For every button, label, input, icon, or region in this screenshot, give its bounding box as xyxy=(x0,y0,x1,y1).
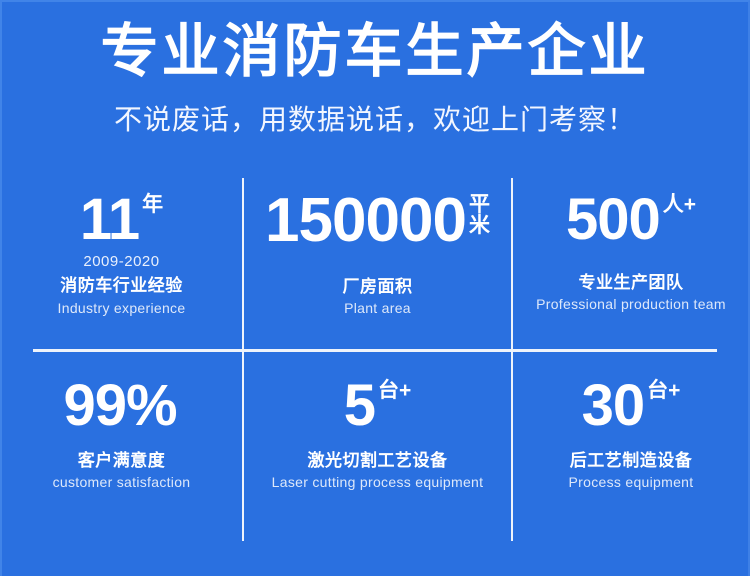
stat-label-en: customer satisfaction xyxy=(53,474,191,490)
stat-unit: 台+ xyxy=(647,380,680,401)
stat-label-cn: 消防车行业经验 xyxy=(60,276,183,296)
stat-label-cn: 厂房面积 xyxy=(343,277,413,297)
stat-label-en: Laser cutting process equipment xyxy=(272,474,484,490)
stat-unit: 台+ xyxy=(378,380,411,401)
stat-cell-process-equipment: 30 台+ 后工艺制造设备 Process equipment xyxy=(512,348,750,538)
stat-cell-industry-experience: 11 年 2009-2020 消防车行业经验 Industry experien… xyxy=(0,176,243,348)
page-title: 专业消防车生产企业 xyxy=(0,22,750,83)
stat-label-cn: 后工艺制造设备 xyxy=(570,451,693,471)
banner-header: 专业消防车生产企业 不说废话，用数据说话，欢迎上门考察！ xyxy=(0,0,750,136)
stat-label-cn: 专业生产团队 xyxy=(579,273,684,293)
stat-figure: 99% xyxy=(63,378,179,433)
stat-cell-plant-area: 150000 平 米 厂房面积 Plant area xyxy=(243,176,512,348)
stats-section: 11 年 2009-2020 消防车行业经验 Industry experien… xyxy=(0,176,750,556)
stat-cell-customer-satisfaction: 99% 客户满意度 customer satisfaction xyxy=(0,348,243,538)
stats-grid: 11 年 2009-2020 消防车行业经验 Industry experien… xyxy=(0,176,750,538)
stat-figure: 150000 平 米 xyxy=(265,192,490,251)
stat-value: 5 xyxy=(344,378,375,433)
stat-year-range: 2009-2020 xyxy=(83,254,159,271)
stat-value: 500 xyxy=(566,192,660,247)
stat-value: 30 xyxy=(582,378,645,433)
stat-label-cn: 激光切割工艺设备 xyxy=(308,451,448,471)
stat-cell-laser-cutting-equipment: 5 台+ 激光切割工艺设备 Laser cutting process equi… xyxy=(243,348,512,538)
stat-figure: 30 台+ xyxy=(582,378,681,433)
stat-value: 99% xyxy=(63,378,176,433)
stat-figure: 11 年 xyxy=(80,192,163,247)
stat-cell-production-team: 500 人+ 专业生产团队 Professional production te… xyxy=(512,176,750,348)
stat-label-cn: 客户满意度 xyxy=(78,451,166,471)
stat-unit: 人+ xyxy=(663,194,696,215)
stat-unit: 年 xyxy=(142,194,163,215)
stat-label-en: Professional production team xyxy=(536,296,726,312)
stat-label-en: Process equipment xyxy=(569,474,694,490)
stat-figure: 5 台+ xyxy=(344,378,412,433)
stat-value: 11 xyxy=(80,192,139,247)
stat-label-en: Plant area xyxy=(344,300,411,316)
stat-label-en: Industry experience xyxy=(58,300,186,316)
promo-banner: 专业消防车生产企业 不说废话，用数据说话，欢迎上门考察！ 11 年 2009-2… xyxy=(0,0,750,576)
stat-value: 150000 xyxy=(265,192,466,251)
stat-unit: 平 米 xyxy=(469,194,490,237)
page-subtitle: 不说废话，用数据说话，欢迎上门考察！ xyxy=(0,105,750,136)
stat-figure: 500 人+ xyxy=(566,192,696,247)
